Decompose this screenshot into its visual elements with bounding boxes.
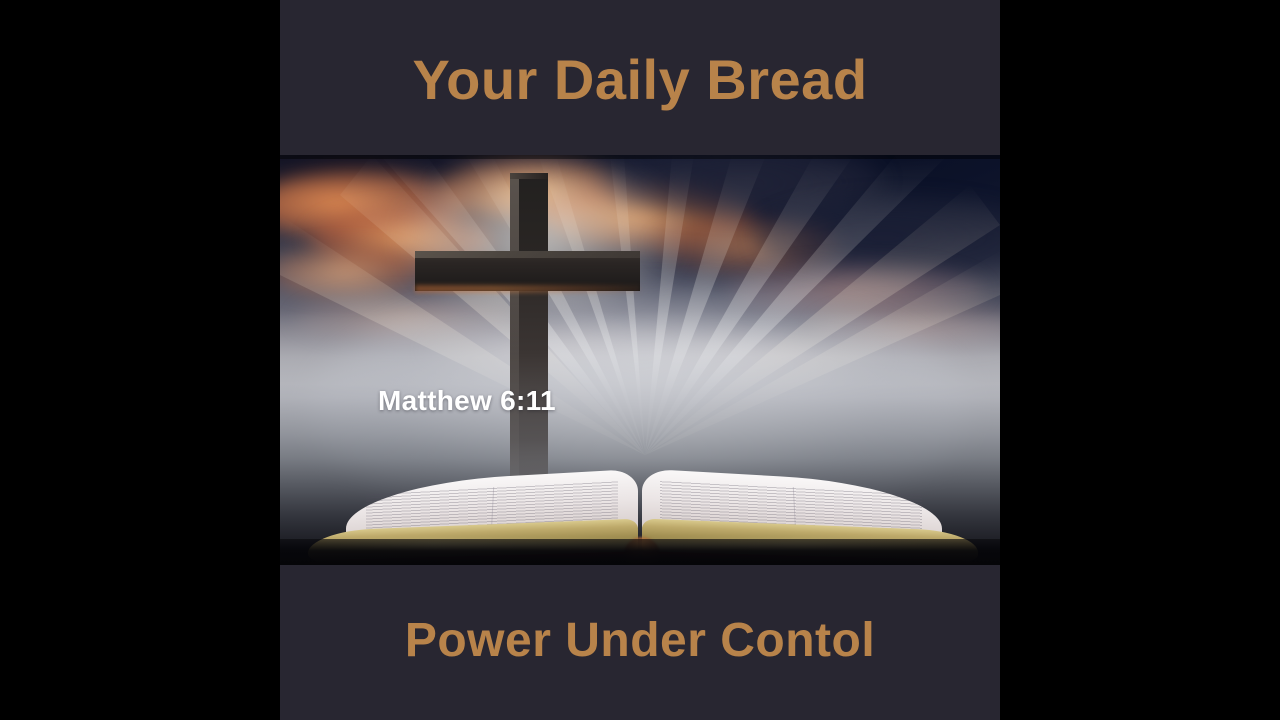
- table-surface: [280, 539, 1000, 565]
- cross-horizontal-top-edge: [415, 251, 640, 258]
- image-top-shadow: [280, 155, 1000, 159]
- content-panel: Your Daily Bread: [280, 0, 1000, 720]
- letterbox-left: [0, 0, 280, 720]
- title-band: Your Daily Bread: [280, 0, 1000, 155]
- page-title: Your Daily Bread: [412, 52, 867, 108]
- cross-horizontal-rim-glow: [415, 285, 640, 293]
- hero-image: Matthew 6:11: [280, 155, 1000, 565]
- sermon-title: Power Under Contol: [405, 617, 875, 665]
- cross-top-cap: [510, 173, 548, 179]
- subtitle-band: Power Under Contol: [280, 565, 1000, 720]
- letterbox-right: [1000, 0, 1280, 720]
- video-frame: Your Daily Bread: [0, 0, 1280, 720]
- verse-reference: Matthew 6:11: [378, 385, 556, 417]
